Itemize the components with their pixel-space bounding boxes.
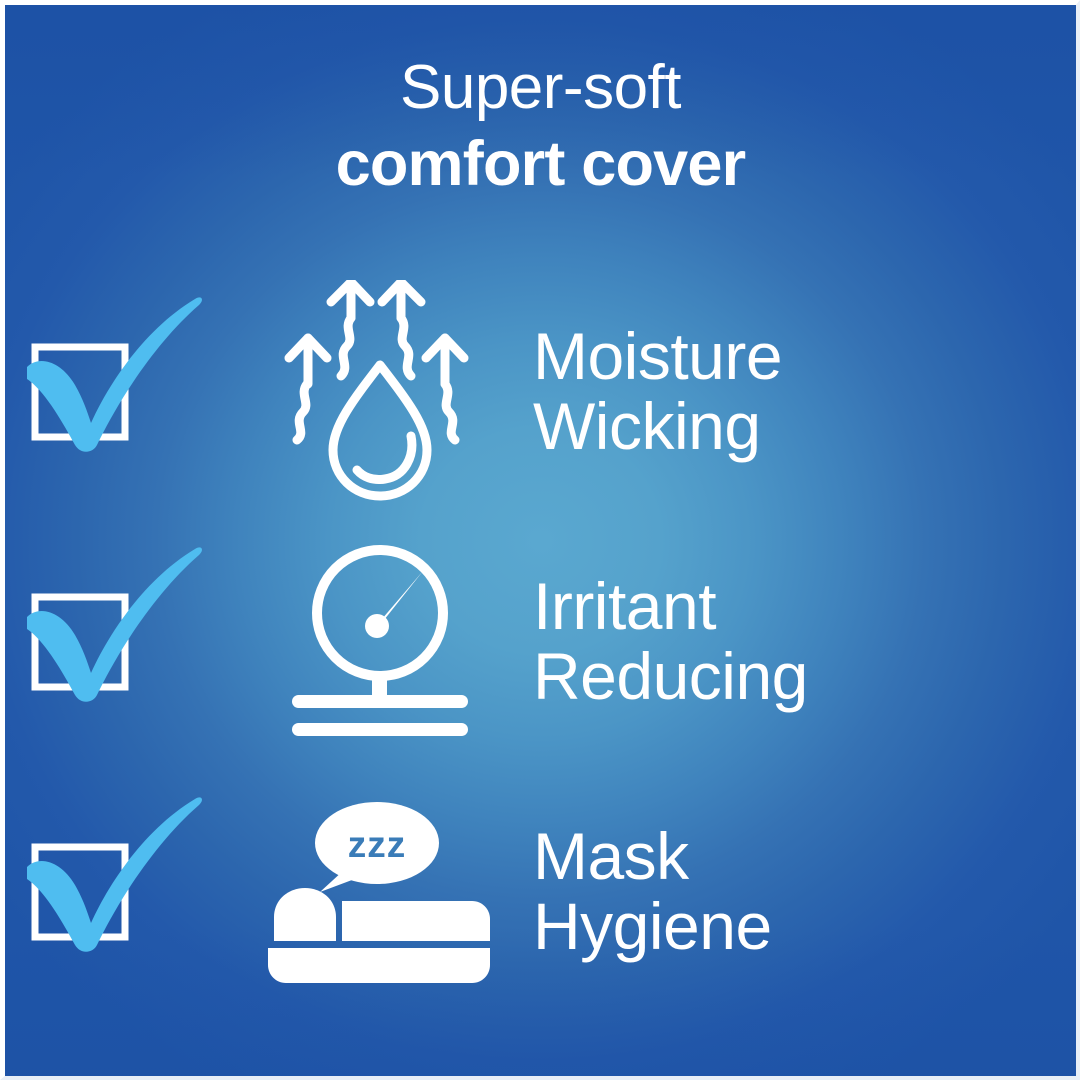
checkbox-checked-icon (5, 287, 245, 497)
feature-label-line2: Hygiene (533, 892, 1076, 962)
checkbox-checked-mask-hygiene[interactable] (5, 787, 245, 997)
page-title: Super-soft comfort cover (5, 57, 1076, 196)
page-title-line1: Super-soft (5, 57, 1076, 119)
gauge-meter-icon (245, 540, 515, 745)
page-title-line2: comfort cover (5, 133, 1076, 196)
feature-label-line1: Irritant (533, 569, 716, 643)
feature-row-irritant-reducing: Irritant Reducing (5, 517, 1076, 767)
droplet-with-rising-arrows-glyph (275, 280, 485, 505)
super-soft-comfort-cover-poster: Super-soft comfort cover (0, 0, 1080, 1080)
sleeping-bed-zzz-icon: zzz (245, 800, 515, 985)
feature-row-mask-hygiene: zzz Mask Hygiene (5, 767, 1076, 1017)
feature-label-line1: Moisture (533, 319, 782, 393)
feature-label-line2: Reducing (533, 642, 1076, 712)
feature-label-mask-hygiene: Mask Hygiene (515, 822, 1076, 962)
feature-row-moisture-wicking: Moisture Wicking (5, 267, 1076, 517)
checkbox-checked-icon (5, 787, 245, 997)
feature-label-line1: Mask (533, 819, 689, 893)
checkbox-checked-irritant-reducing[interactable] (5, 537, 245, 747)
moisture-droplet-arrows-icon (245, 280, 515, 505)
zzz-label: zzz (348, 824, 407, 865)
feature-label-moisture-wicking: Moisture Wicking (515, 322, 1076, 462)
checkbox-checked-moisture-wicking[interactable] (5, 287, 245, 497)
checkbox-checked-icon (5, 537, 245, 747)
feature-label-line2: Wicking (533, 392, 1076, 462)
gauge-with-base-glyph (280, 540, 480, 745)
feature-label-irritant-reducing: Irritant Reducing (515, 572, 1076, 712)
feature-list: Moisture Wicking (5, 267, 1076, 1017)
bed-with-speech-bubble-glyph: zzz (260, 800, 500, 985)
